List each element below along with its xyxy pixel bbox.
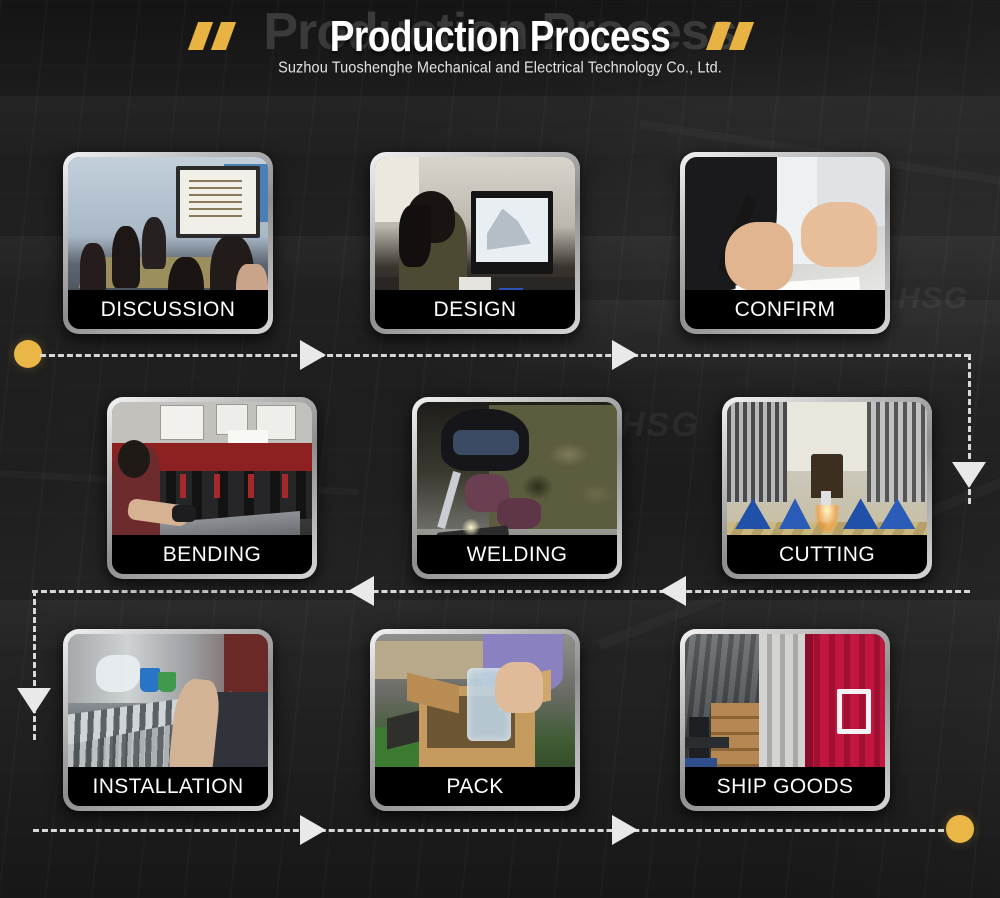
step-card-bending[interactable]: BENDING [107, 397, 317, 579]
step-card-design[interactable]: DESIGN [370, 152, 580, 334]
step-card-ship-goods[interactable]: SHIP GOODS [680, 629, 890, 811]
bg-plate [0, 96, 1000, 154]
step-label-bending: BENDING [163, 543, 261, 567]
page-header: Production Process Production Process Su… [0, 0, 1000, 92]
step-label-welding: WELDING [467, 543, 568, 567]
background-watermark: HSG [620, 406, 700, 445]
step-label-ship-goods: SHIP GOODS [717, 775, 854, 799]
step-label-bar: DISCUSSION [68, 290, 268, 329]
step-card-cutting[interactable]: CUTTING [722, 397, 932, 579]
step-label-bar: SHIP GOODS [685, 767, 885, 806]
step-label-bar: DESIGN [375, 290, 575, 329]
step-card-pack[interactable]: PACK [370, 629, 580, 811]
step-label-pack: PACK [446, 775, 503, 799]
step-label-bar: INSTALLATION [68, 767, 268, 806]
step-label-bar: CONFIRM [685, 290, 885, 329]
step-label-confirm: CONFIRM [735, 298, 836, 322]
step-label-bar: WELDING [417, 535, 617, 574]
step-label-installation: INSTALLATION [92, 775, 243, 799]
step-label-cutting: CUTTING [779, 543, 875, 567]
step-label-bar: BENDING [112, 535, 312, 574]
step-label-discussion: DISCUSSION [101, 298, 236, 322]
quote-mark-left-icon [193, 22, 245, 50]
quote-mark-right-icon [711, 22, 763, 50]
step-label-bar: CUTTING [727, 535, 927, 574]
step-card-discussion[interactable]: DISCUSSION [63, 152, 273, 334]
step-label-bar: PACK [375, 767, 575, 806]
step-label-design: DESIGN [434, 298, 517, 322]
step-card-installation[interactable]: INSTALLATION [63, 629, 273, 811]
step-card-confirm[interactable]: CONFIRM [680, 152, 890, 334]
background-watermark: HSG [898, 282, 969, 316]
company-subtitle: Suzhou Tuoshenghe Mechanical and Electri… [0, 60, 1000, 77]
step-card-welding[interactable]: WELDING [412, 397, 622, 579]
page-title: Production Process [0, 12, 1000, 62]
